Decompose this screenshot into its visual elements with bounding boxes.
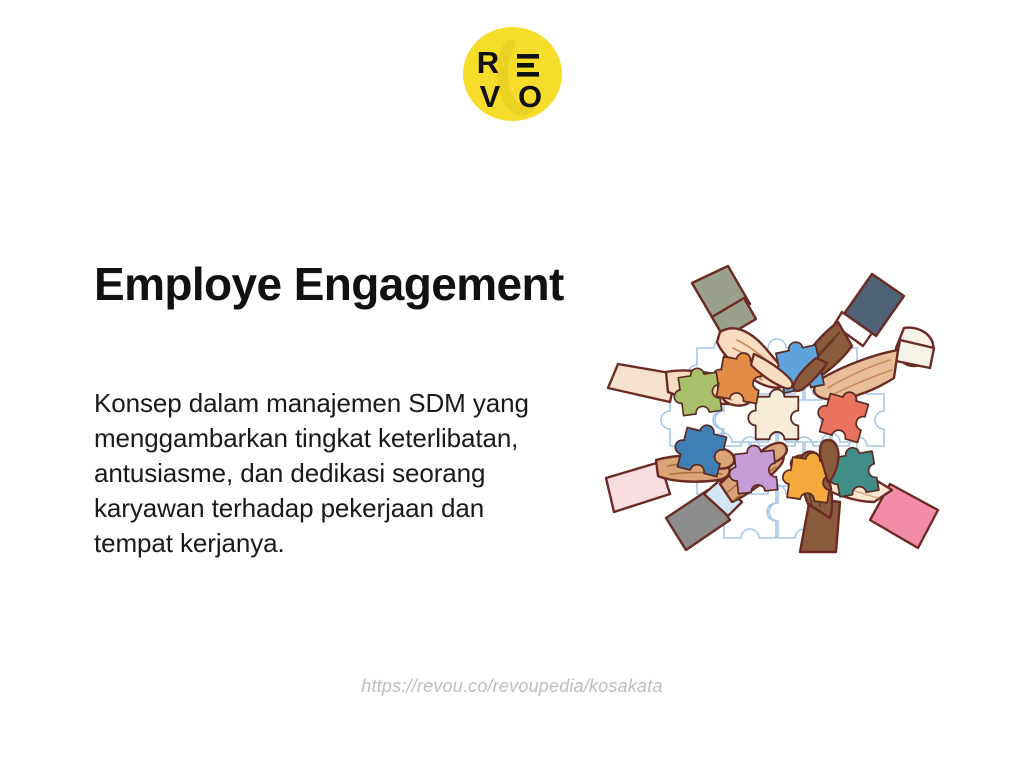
definition-line: tempat kerjanya. (94, 526, 594, 561)
definition-line: karyawan terhadap pekerjaan dan (94, 491, 594, 526)
svg-text:O: O (518, 79, 542, 114)
eight-hands-puzzle-svg (604, 262, 950, 560)
logo-wordmark-revo: R V O (463, 27, 562, 121)
definition-text: Konsep dalam manajemen SDM yang menggamb… (94, 386, 594, 561)
revou-logo[interactable]: R V O (463, 27, 562, 121)
svg-text:R: R (477, 45, 499, 80)
source-url[interactable]: https://revou.co/revoupedia/kosakata (0, 676, 1024, 697)
slide-canvas: R V O Employe Engagement Konsep dalam ma… (0, 0, 1024, 768)
definition-line: antusiasme, dan dedikasi seorang (94, 456, 594, 491)
svg-text:V: V (480, 79, 501, 114)
definition-line: Konsep dalam manajemen SDM yang (94, 386, 594, 421)
definition-line: menggambarkan tingkat keterlibatan, (94, 421, 594, 456)
teamwork-puzzle-illustration (604, 262, 950, 560)
